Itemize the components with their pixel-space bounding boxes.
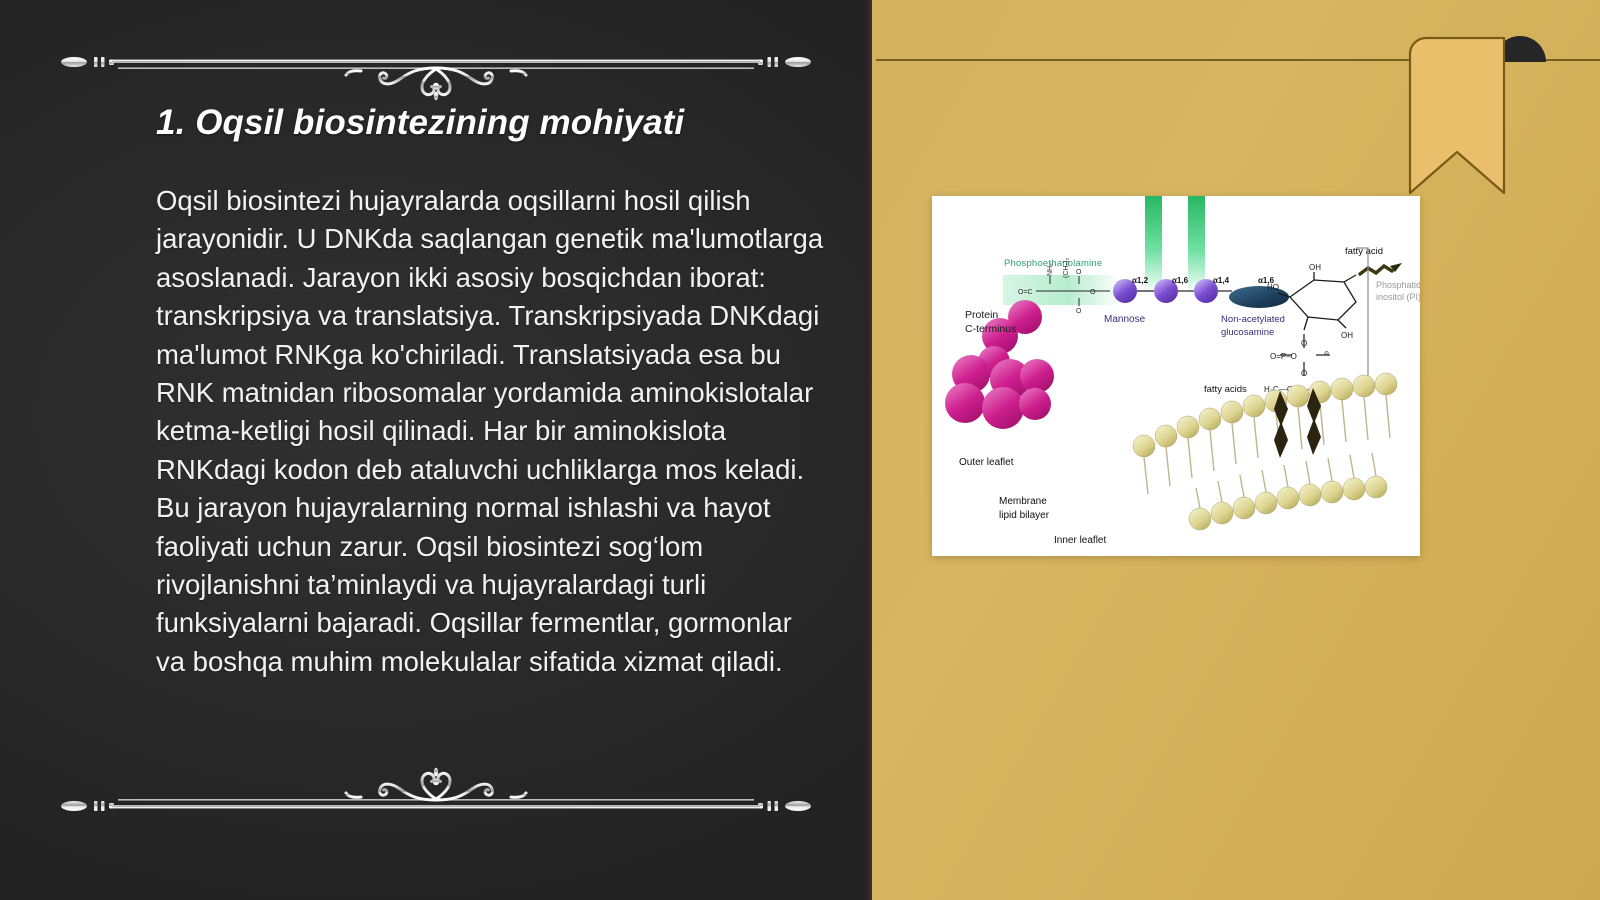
figure-label-nonacetylated-2: glucosamine	[1221, 327, 1274, 338]
slide-root: 1. Oqsil biosintezining mohiyati Oqsil b…	[0, 0, 1600, 900]
svg-text:NH₂: NH₂	[1047, 263, 1054, 276]
figure-label-mannose: Mannose	[1104, 314, 1146, 325]
svg-text:⊖: ⊖	[1324, 351, 1329, 357]
figure-label-outer-leaflet: Outer leaflet	[959, 457, 1014, 468]
slide-title: 1. Oqsil biosintezining mohiyati	[156, 103, 836, 143]
slide-body-text: Oqsil biosintezi hujayralarda oqsillarni…	[156, 182, 828, 681]
figure-chem-oh-top: OH	[1309, 263, 1321, 272]
figure-label-inner-leaflet: Inner leaflet	[1054, 535, 1106, 546]
svg-text:O=C: O=C	[1018, 289, 1033, 296]
figure-chem-ho-left: HO	[1267, 283, 1279, 292]
svg-text:(CH₂)₂: (CH₂)₂	[1063, 258, 1070, 278]
svg-text:O: O	[1076, 269, 1082, 276]
figure-label-protein: Protein	[965, 309, 998, 321]
figure-label-phosphatidyl-1: Phosphatidyl	[1376, 280, 1420, 290]
figure-linkage-a14: α1,4	[1213, 276, 1230, 285]
figure-chem-oh-right: OH	[1341, 331, 1353, 340]
figure-label-membrane-2: lipid bilayer	[999, 510, 1050, 521]
svg-text:O: O	[1301, 369, 1307, 378]
svg-text:O: O	[1076, 308, 1082, 315]
figure-label-fatty-acids: fatty acids	[1204, 384, 1247, 395]
gpi-anchor-diagram-figure: Phosphoethanolamine Protein C-terminus	[932, 196, 1420, 556]
figure-chem-phosphate: O=P–O	[1270, 352, 1297, 361]
bookmark-ribbon-icon	[1408, 36, 1506, 194]
glucosamine-shape	[1229, 286, 1289, 308]
figure-label-c-terminus: C-terminus	[965, 323, 1016, 335]
figure-label-phosphatidyl-2: inositol (PI)	[1376, 292, 1420, 302]
figure-linkage-a16-1: α1,6	[1172, 276, 1189, 285]
svg-text:O: O	[1090, 289, 1096, 296]
figure-linkage-a12: α1,2	[1132, 276, 1149, 285]
figure-label-membrane-1: Membrane	[999, 496, 1047, 507]
svg-text:O: O	[1301, 339, 1307, 348]
figure-label-nonacetylated-1: Non-acetylated	[1221, 314, 1285, 325]
